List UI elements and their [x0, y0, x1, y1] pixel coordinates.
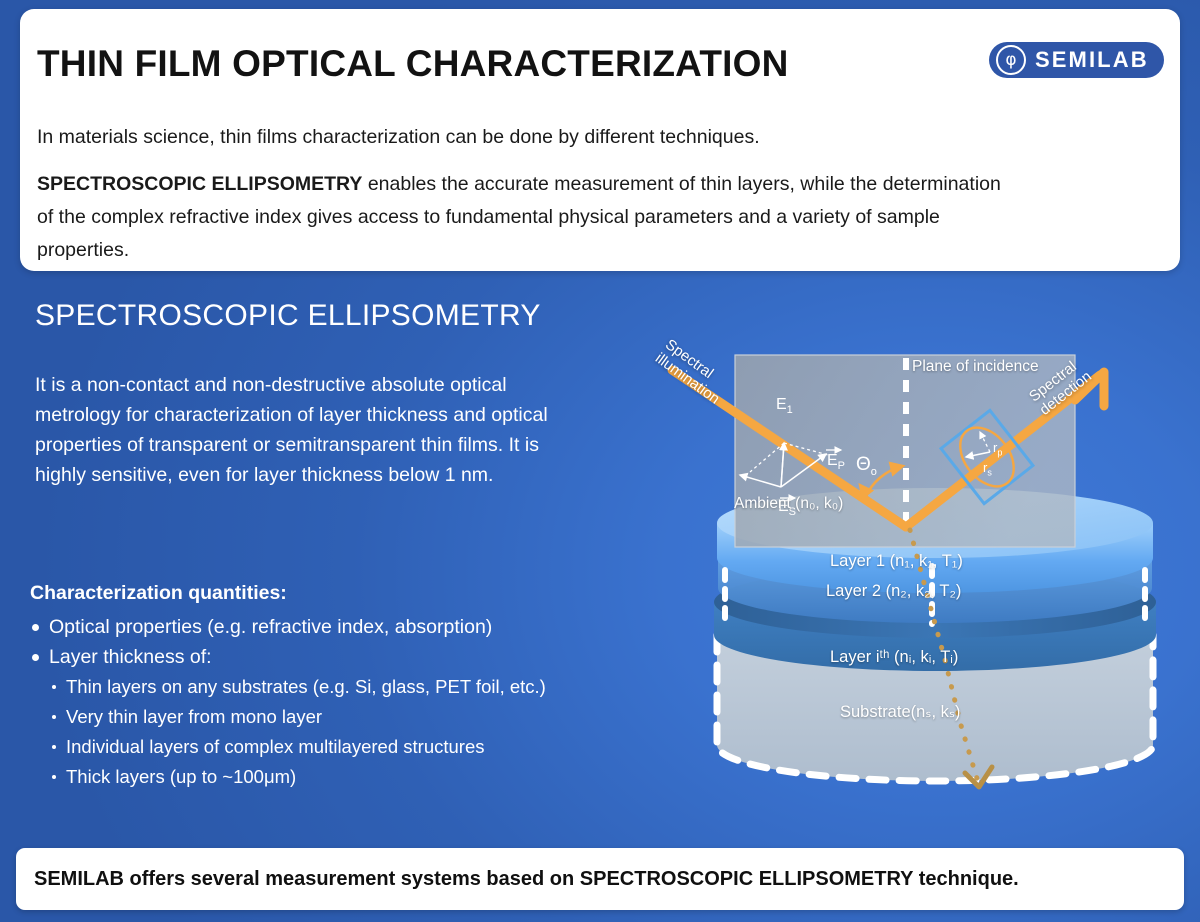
e-p-subscript: P — [838, 460, 845, 472]
list-item: Thin layers on any substrates (e.g. Si, … — [30, 672, 650, 702]
list-item: Layer thickness of: — [30, 642, 650, 672]
e-p-symbol: E — [827, 452, 838, 469]
substrate-label: Substrate(nₛ, kₛ) — [840, 702, 961, 722]
r-p-label: rp — [993, 440, 1002, 458]
footer-banner: SEMILAB offers several measurement syste… — [16, 848, 1184, 910]
ambient-label: Ambient (n₀, k₀) — [734, 495, 843, 513]
incidence-angle-symbol: Θ — [856, 454, 871, 475]
layer-i-label: Layer iᵗʰ (nᵢ, kᵢ, Tᵢ) — [830, 648, 958, 667]
incidence-angle-label: Θo — [856, 454, 877, 478]
footer-text: SEMILAB offers several measurement syste… — [34, 868, 1019, 891]
header-card: THIN FILM OPTICAL CHARACTERIZATION φ SEM… — [20, 9, 1180, 271]
list-item: Thick layers (up to ~100μm) — [30, 762, 650, 792]
e-incident-label: E1 — [776, 396, 793, 416]
characterization-quantities-title: Characterization quantities: — [30, 582, 287, 605]
layer-1-label: Layer 1 (n₁, k₁, T₁) — [830, 552, 963, 571]
semilab-logo: φ SEMILAB — [989, 42, 1164, 78]
r-s-label: rs — [983, 460, 992, 478]
ellipsometry-diagram: Plane of incidence Spectral illumination… — [660, 330, 1200, 810]
incidence-angle-subscript: o — [871, 466, 877, 478]
e-incident-subscript: 1 — [787, 404, 793, 416]
r-p-subscript: p — [997, 448, 1002, 458]
e-incident-symbol: E — [776, 396, 787, 413]
header-paragraph-1: In materials science, thin films charact… — [37, 121, 760, 154]
characterization-bullets: Optical properties (e.g. refractive inde… — [30, 612, 650, 792]
list-item: Individual layers of complex multilayere… — [30, 732, 650, 762]
list-item: Very thin layer from mono layer — [30, 702, 650, 732]
e-p-label: EP — [827, 452, 845, 472]
plane-of-incidence-label: Plane of incidence — [912, 358, 1039, 376]
section-intro-text: It is a non-contact and non-destructive … — [35, 370, 565, 490]
r-s-subscript: s — [987, 468, 992, 478]
phi-symbol-icon: φ — [996, 45, 1026, 75]
header-paragraph-2: SPECTROSCOPIC ELLIPSOMETRY enables the a… — [37, 168, 1022, 267]
list-item: Optical properties (e.g. refractive inde… — [30, 612, 650, 642]
layer-2-label: Layer 2 (n₂, k₂, T₂) — [826, 582, 961, 601]
page-title: THIN FILM OPTICAL CHARACTERIZATION — [37, 43, 789, 85]
header-paragraph-2-bold: SPECTROSCOPIC ELLIPSOMETRY — [37, 173, 362, 195]
section-title: SPECTROSCOPIC ELLIPSOMETRY — [35, 299, 541, 333]
logo-text: SEMILAB — [1035, 47, 1149, 73]
